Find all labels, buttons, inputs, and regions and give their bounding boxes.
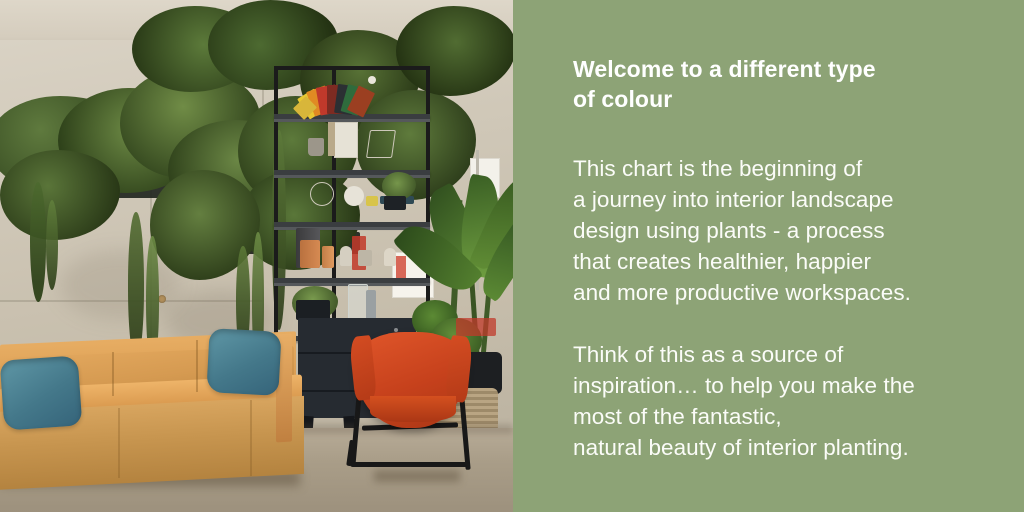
chair-shadow	[374, 470, 460, 482]
bench-seam	[250, 400, 252, 476]
bench-seam	[196, 340, 198, 392]
spacer	[573, 308, 984, 339]
chair-seat-front	[370, 396, 456, 422]
panel-paragraph-2: Think of this as a source of inspiration…	[573, 339, 984, 463]
shelf-candle	[358, 250, 372, 266]
shelf-plant-pot	[384, 196, 406, 210]
shelf-plant-pot	[296, 300, 330, 320]
shelf-wire-object	[310, 182, 334, 206]
red-object	[456, 318, 496, 336]
teal-cushion-right	[206, 328, 281, 396]
spacer	[573, 114, 984, 153]
shelf-object	[366, 290, 376, 320]
shelf-book	[334, 122, 358, 158]
copper-vase	[322, 246, 334, 268]
shelf-ornament	[368, 76, 376, 84]
trailing-vine	[30, 182, 46, 302]
shelf-figurine	[340, 246, 352, 266]
shelf-post	[274, 66, 278, 356]
green-text-panel: Welcome to a different type of colour Th…	[513, 0, 1024, 512]
shelf-plate	[344, 186, 364, 206]
bench-seam	[118, 408, 120, 478]
copper-vase	[300, 240, 320, 268]
shelf-wire-object	[366, 130, 396, 158]
interior-photo	[0, 0, 513, 512]
panel-heading: Welcome to a different type of colour	[573, 54, 984, 114]
bench-seam	[112, 352, 114, 396]
promo-banner: Welcome to a different type of colour Th…	[0, 0, 1024, 512]
panel-paragraph-1: This chart is the beginning of a journey…	[573, 153, 984, 308]
trailing-vine	[46, 200, 58, 290]
shelf-top-rail	[274, 66, 430, 70]
shelf-book-spine	[328, 122, 335, 156]
wall-hole	[158, 295, 166, 303]
shelf-vase	[308, 138, 324, 156]
chair-frame-base	[350, 462, 470, 467]
glass-cloche	[348, 284, 368, 322]
shelf-figurine	[384, 248, 396, 266]
shelf-ornament	[366, 196, 378, 206]
teal-cushion-left	[0, 355, 82, 430]
